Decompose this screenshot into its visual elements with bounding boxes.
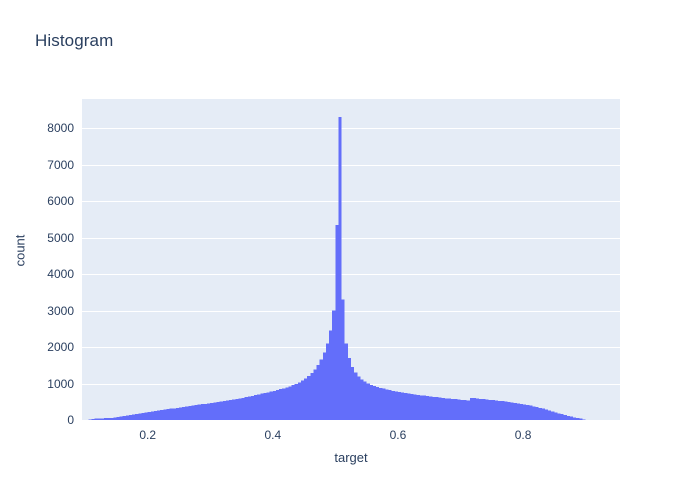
y-tick-label: 7000 (4, 159, 74, 171)
x-tick-label: 0.2 (108, 429, 188, 441)
y-tick-label: 0 (4, 414, 74, 426)
y-tick-label: 3000 (4, 305, 74, 317)
x-axis-tick-labels: 0.20.40.60.8 (82, 429, 620, 447)
y-axis-tick-labels: 010002000300040005000600070008000 (0, 99, 74, 420)
x-axis-title: target (82, 450, 620, 465)
plot-area (82, 99, 620, 420)
histogram-bars[interactable] (82, 99, 620, 420)
x-tick-label: 0.6 (358, 429, 438, 441)
y-tick-label: 1000 (4, 378, 74, 390)
x-tick-label: 0.4 (233, 429, 313, 441)
x-tick-label: 0.8 (483, 429, 563, 441)
y-tick-label: 8000 (4, 122, 74, 134)
chart-title: Histogram (35, 31, 113, 51)
bar-series[interactable] (88, 117, 585, 420)
y-axis-title: count (13, 211, 28, 291)
y-tick-label: 2000 (4, 341, 74, 353)
y-tick-label: 6000 (4, 195, 74, 207)
histogram-figure: Histogram 010002000300040005000600070008… (0, 0, 700, 500)
